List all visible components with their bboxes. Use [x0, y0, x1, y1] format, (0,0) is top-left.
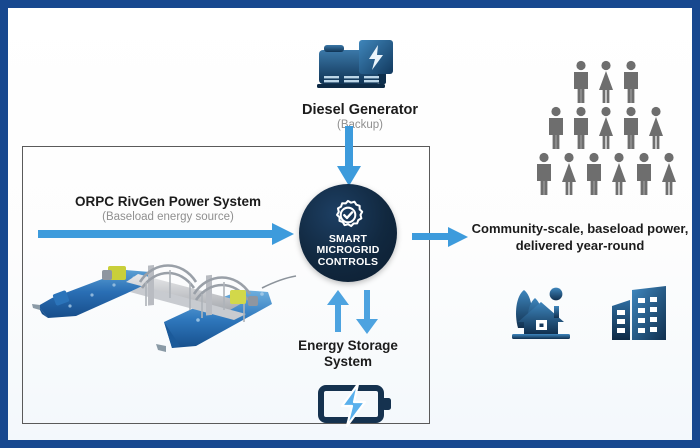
diesel-generator-block: Diesel Generator (Backup) [280, 36, 440, 131]
person-female-icon [645, 106, 667, 150]
smart-microgrid-controls-hub: SMART MICROGRID CONTROLS [299, 184, 397, 282]
gear-check-icon [331, 198, 365, 232]
person-male-icon [570, 106, 592, 150]
diesel-generator-icon [312, 36, 408, 98]
office-buildings-icon [608, 284, 670, 346]
diagram-canvas: Diesel Generator (Backup) SMART MICROGRI… [8, 8, 692, 440]
arrow-generator-to-hub [336, 126, 362, 188]
people-row [526, 152, 686, 196]
person-male-icon [533, 152, 555, 196]
hub-label: SMART MICROGRID CONTROLS [316, 234, 379, 269]
hub-label-line1: SMART [329, 233, 367, 245]
energy-storage-line2: System [324, 354, 372, 369]
person-female-icon [558, 152, 580, 196]
person-female-icon [595, 106, 617, 150]
person-male-icon [583, 152, 605, 196]
source-label-block: ORPC RivGen Power System (Baseload energ… [48, 194, 288, 223]
person-male-icon [545, 106, 567, 150]
person-male-icon [620, 106, 642, 150]
source-title: ORPC RivGen Power System [48, 194, 288, 209]
arrow-hub-to-output [412, 226, 470, 248]
person-male-icon [633, 152, 655, 196]
hub-label-line2: MICROGRID [316, 244, 379, 256]
person-female-icon [595, 60, 617, 104]
person-female-icon [608, 152, 630, 196]
rivgen-turbine-device [30, 248, 300, 388]
hub-label-line3: CONTROLS [318, 256, 379, 268]
person-female-icon [658, 152, 680, 196]
people-group-icon [526, 60, 686, 200]
arrow-hub-storage-bidirectional [326, 290, 382, 334]
person-male-icon [570, 60, 592, 104]
arrow-source-to-hub [38, 223, 296, 245]
output-line1: Community-scale, baseload power, [472, 221, 689, 236]
buildings-group [508, 280, 688, 346]
people-row [526, 60, 686, 104]
people-row [526, 106, 686, 150]
diesel-generator-label: Diesel Generator [280, 102, 440, 118]
output-line2: delivered year-round [516, 238, 645, 253]
source-sublabel: (Baseload energy source) [48, 211, 288, 223]
energy-storage-label: Energy Storage System [266, 338, 430, 370]
output-text: Community-scale, baseload power, deliver… [466, 220, 692, 254]
house-with-trees-icon [508, 284, 574, 346]
energy-storage-line1: Energy Storage [298, 338, 398, 353]
person-male-icon [620, 60, 642, 104]
battery-charging-icon [318, 380, 394, 428]
